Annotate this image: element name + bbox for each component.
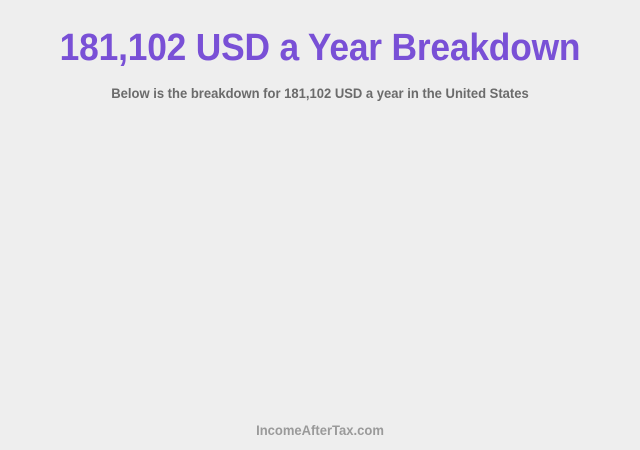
site-watermark: IncomeAfterTax.com [22,421,617,439]
page-subtitle: Below is the breakdown for 181,102 USD a… [22,84,617,102]
page-title: 181,102 USD a Year Breakdown [22,26,617,70]
breakdown-content-area [0,112,640,412]
breakdown-page: 181,102 USD a Year Breakdown Below is th… [0,0,640,450]
